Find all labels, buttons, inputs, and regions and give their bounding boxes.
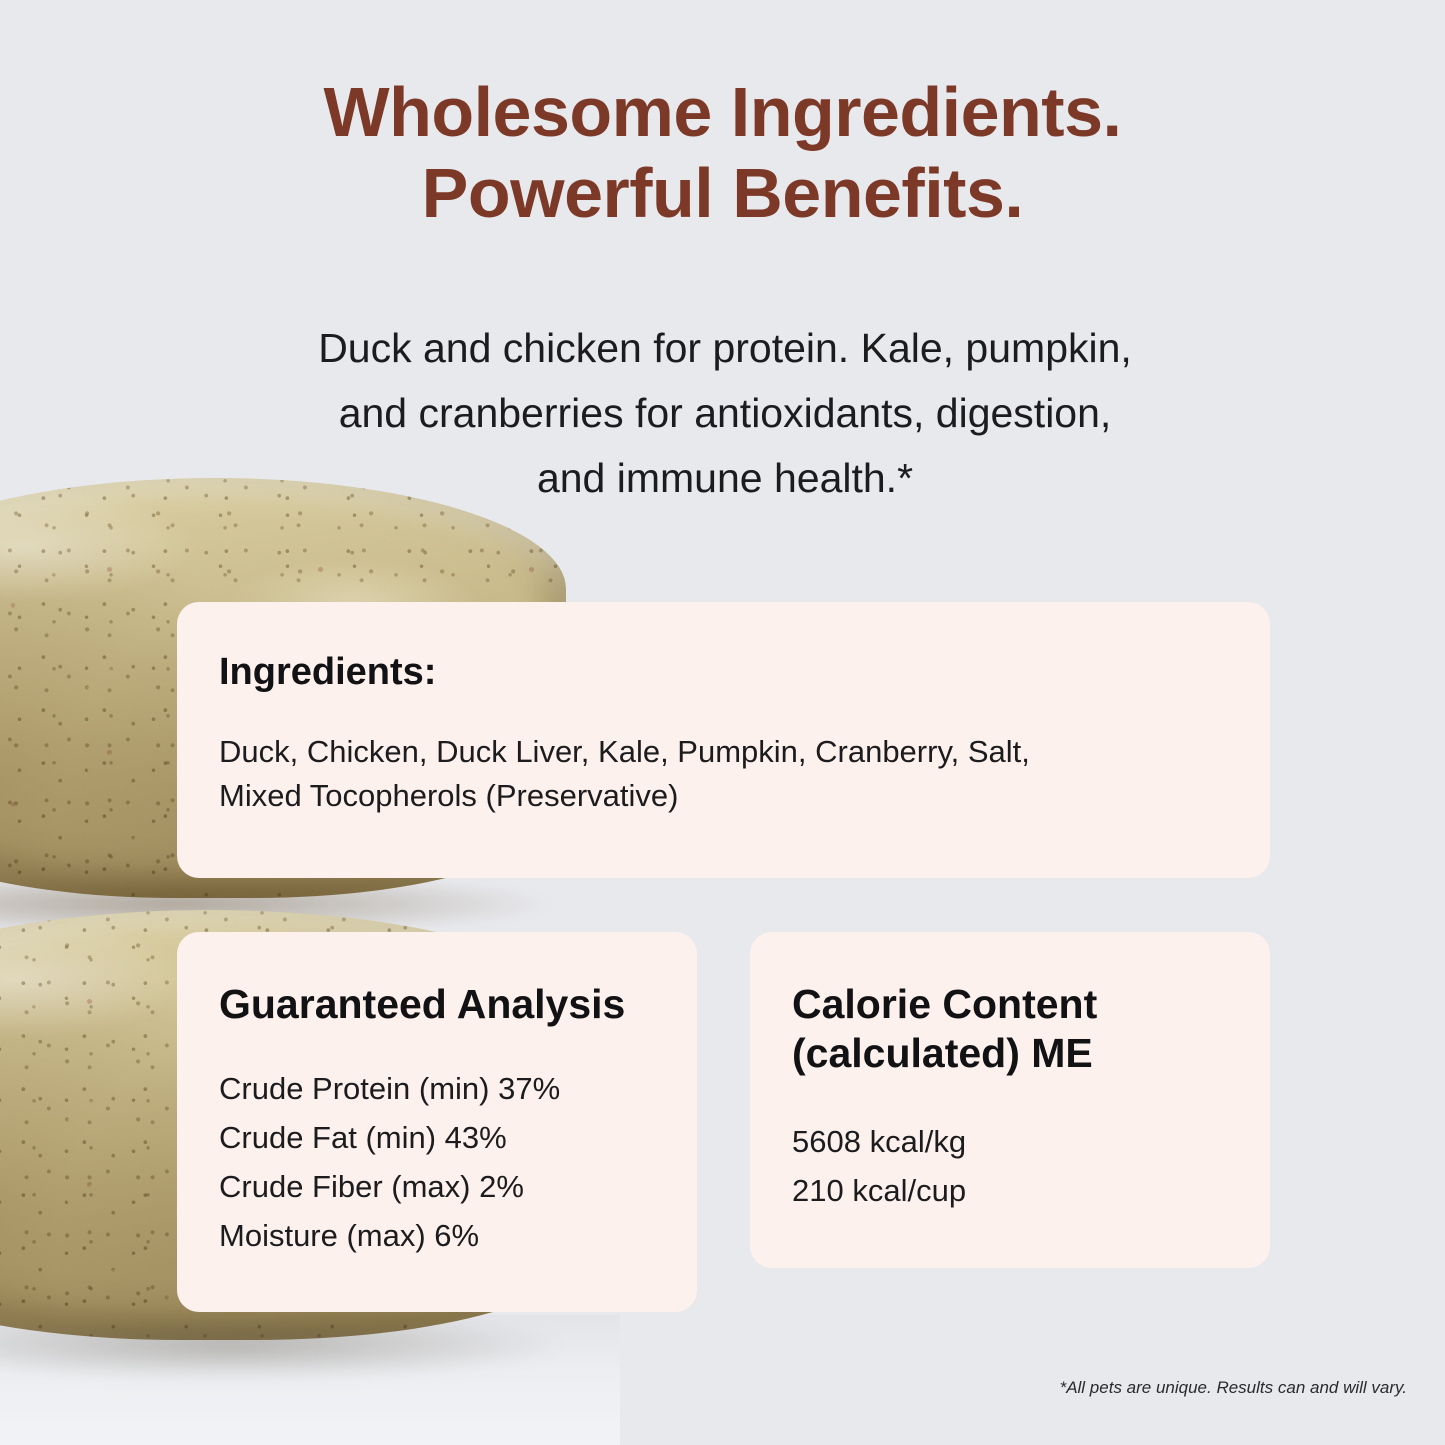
- page-subtitle: Duck and chicken for protein. Kale, pump…: [120, 316, 1330, 510]
- subtitle-line-3: and immune health.*: [120, 446, 1330, 511]
- ingredients-card: Ingredients: Duck, Chicken, Duck Liver, …: [177, 602, 1270, 878]
- ingredients-list: Duck, Chicken, Duck Liver, Kale, Pumpkin…: [219, 730, 1224, 818]
- calorie-content-title: Calorie Content (calculated) ME: [792, 980, 1232, 1078]
- guaranteed-analysis-title: Guaranteed Analysis: [219, 980, 659, 1029]
- calorie-content-card: Calorie Content (calculated) ME 5608 kca…: [750, 932, 1270, 1268]
- patty-drop-shadow: [0, 1320, 580, 1382]
- calorie-row-per-cup: 210 kcal/cup: [792, 1167, 1232, 1216]
- disclaimer-footnote: *All pets are unique. Results can and wi…: [1060, 1378, 1407, 1398]
- ingredients-line-1: Duck, Chicken, Duck Liver, Kale, Pumpkin…: [219, 730, 1224, 774]
- subtitle-line-2: and cranberries for antioxidants, digest…: [120, 381, 1330, 446]
- subtitle-line-1: Duck and chicken for protein. Kale, pump…: [120, 316, 1330, 381]
- ingredients-title: Ingredients:: [219, 650, 1224, 696]
- calorie-title-line-2: (calculated) ME: [792, 1030, 1093, 1076]
- page-title: Wholesome Ingredients. Powerful Benefits…: [0, 72, 1445, 234]
- analysis-row-moisture: Moisture (max) 6%: [219, 1212, 659, 1261]
- headline-line-2: Powerful Benefits.: [0, 153, 1445, 234]
- headline-line-1: Wholesome Ingredients.: [0, 72, 1445, 153]
- calorie-title-line-1: Calorie Content: [792, 981, 1097, 1027]
- guaranteed-analysis-card: Guaranteed Analysis Crude Protein (min) …: [177, 932, 697, 1312]
- analysis-row-fat: Crude Fat (min) 43%: [219, 1114, 659, 1163]
- calorie-row-per-kg: 5608 kcal/kg: [792, 1118, 1232, 1167]
- ingredients-line-2: Mixed Tocopherols (Preservative): [219, 774, 1224, 818]
- analysis-row-fiber: Crude Fiber (max) 2%: [219, 1163, 659, 1212]
- calorie-content-list: 5608 kcal/kg 210 kcal/cup: [792, 1118, 1232, 1216]
- analysis-row-protein: Crude Protein (min) 37%: [219, 1065, 659, 1114]
- guaranteed-analysis-list: Crude Protein (min) 37% Crude Fat (min) …: [219, 1065, 659, 1261]
